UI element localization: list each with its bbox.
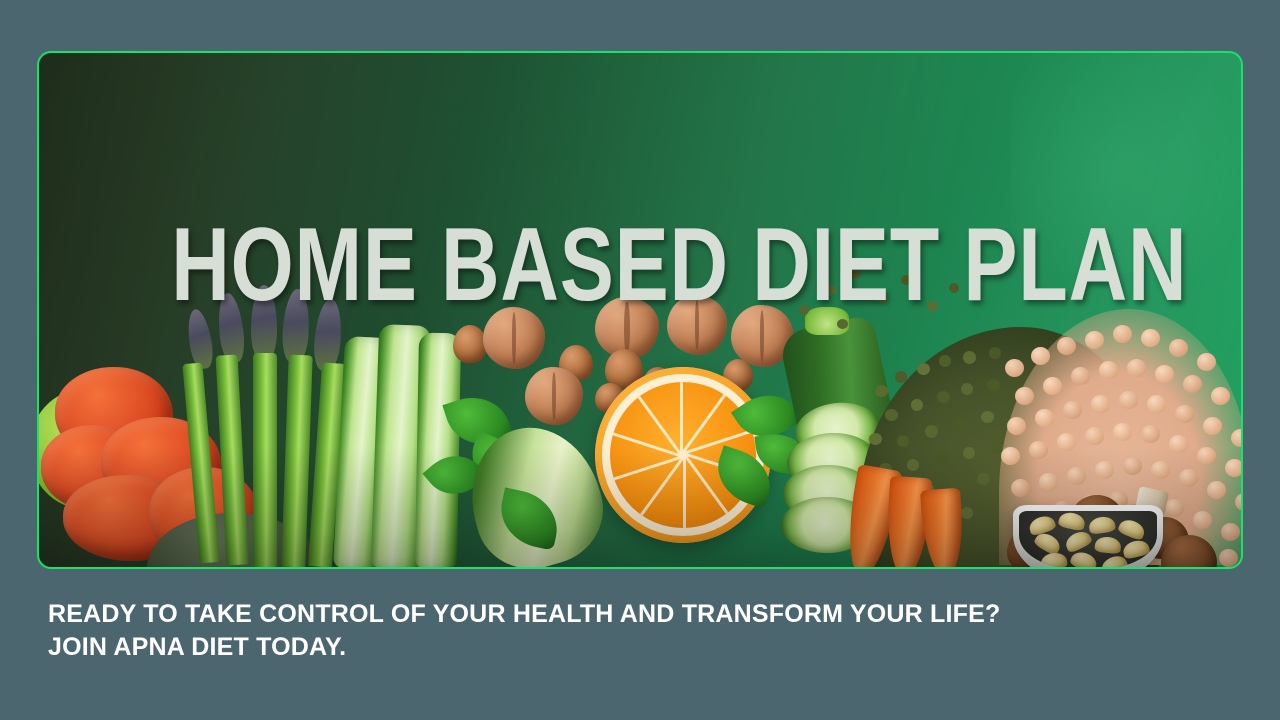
chickpea-image: [1141, 329, 1160, 347]
chickpea-image: [1197, 353, 1216, 371]
chickpea-image: [1207, 481, 1226, 499]
chickpea-image: [1007, 417, 1026, 435]
mung-bean-image: [987, 379, 1000, 391]
chickpea-image: [1179, 469, 1198, 487]
cucumber-slice-image: [415, 333, 461, 569]
chickpea-image: [1165, 499, 1184, 517]
chickpea-image: [1193, 511, 1212, 529]
cashew-image: [1121, 538, 1150, 560]
caption-block: READY TO TAKE CONTROL OF YOUR HEALTH AND…: [48, 598, 1198, 664]
chickpea-image: [1029, 441, 1048, 459]
chickpea-image: [1203, 417, 1222, 435]
chickpea-image: [1085, 331, 1104, 349]
mung-bean-image: [981, 411, 994, 423]
mung-bean-image: [961, 507, 973, 519]
cashew-image: [1063, 528, 1093, 554]
mung-bean-image: [869, 433, 882, 445]
mung-bean-image: [953, 417, 965, 429]
chickpea-image: [1147, 395, 1166, 413]
chickpea-image: [1015, 387, 1034, 405]
cashew-image: [1040, 552, 1068, 569]
asparagus-image: [281, 355, 312, 568]
chickpea-image: [1067, 467, 1086, 485]
chickpea-image: [1183, 375, 1202, 393]
chickpea-image: [1063, 401, 1082, 419]
cashew-image: [1058, 511, 1087, 532]
walnut-image: [525, 367, 583, 425]
chickpea-image: [1155, 365, 1174, 383]
hazelnut-image: [453, 325, 487, 363]
mung-bean-image: [963, 447, 975, 459]
chickpea-image: [1057, 337, 1076, 355]
chickpea-image: [1219, 549, 1238, 567]
cashew-image: [1117, 517, 1147, 542]
chickpea-image: [1127, 359, 1146, 377]
chickpea-image: [1043, 377, 1062, 395]
chickpea-image: [1231, 429, 1243, 447]
mung-bean-image: [907, 459, 919, 471]
mung-bean-image: [917, 363, 930, 375]
chickpea-image: [1119, 391, 1138, 409]
chickpea-image: [1031, 347, 1050, 365]
mung-bean-image: [925, 425, 938, 438]
mung-bean-image: [911, 399, 923, 411]
mung-bean-image: [961, 383, 973, 395]
chickpea-image: [1085, 427, 1104, 445]
chickpea-image: [1211, 387, 1230, 405]
mung-bean-image: [897, 435, 909, 447]
chickpea-image: [1091, 395, 1110, 413]
chickpea-image: [1123, 457, 1142, 475]
caption-line-2: JOIN APNA DIET TODAY.: [48, 631, 1198, 664]
chickpea-image: [1095, 461, 1114, 479]
chickpea-image: [1141, 425, 1160, 443]
mung-bean-image: [885, 409, 898, 421]
chickpea-image: [1197, 447, 1216, 465]
cashew-image: [1088, 515, 1116, 534]
chickpea-image: [1035, 409, 1054, 427]
chickpea-image: [1001, 447, 1020, 465]
chickpea-image: [1099, 361, 1118, 379]
chickpea-image: [1169, 339, 1188, 357]
mung-bean-image: [963, 351, 976, 364]
chickpea-image: [1071, 367, 1090, 385]
mung-bean-image: [875, 385, 888, 397]
mung-bean-image: [937, 391, 950, 403]
hero-banner-card: HOME BASED DIET PLAN: [37, 51, 1243, 569]
chickpea-image: [1113, 423, 1132, 441]
cashew-image: [1069, 549, 1099, 569]
chickpea-image: [1057, 433, 1076, 451]
asparagus-image: [253, 353, 277, 567]
chickpea-image: [1221, 523, 1240, 541]
page-title: HOME BASED DIET PLAN: [171, 213, 1109, 317]
chickpea-image: [1011, 479, 1030, 497]
cashew-image: [1094, 536, 1122, 555]
mung-bean-image: [935, 453, 948, 465]
caption-line-1: READY TO TAKE CONTROL OF YOUR HEALTH AND…: [48, 598, 1198, 631]
chickpea-image: [1175, 405, 1194, 423]
bowl-interior: [1019, 511, 1157, 569]
cashew-bowl-image: [1013, 505, 1163, 569]
mung-bean-image: [895, 371, 907, 383]
chickpea-image: [1225, 459, 1243, 477]
chickpea-image: [1151, 461, 1170, 479]
chickpea-image: [1039, 473, 1058, 491]
chickpea-image: [1113, 325, 1132, 343]
chickpea-image: [1005, 359, 1024, 377]
mung-bean-image: [989, 347, 1001, 359]
mung-bean-image: [977, 473, 990, 485]
chickpea-image: [1169, 435, 1188, 453]
mung-bean-image: [939, 355, 951, 367]
